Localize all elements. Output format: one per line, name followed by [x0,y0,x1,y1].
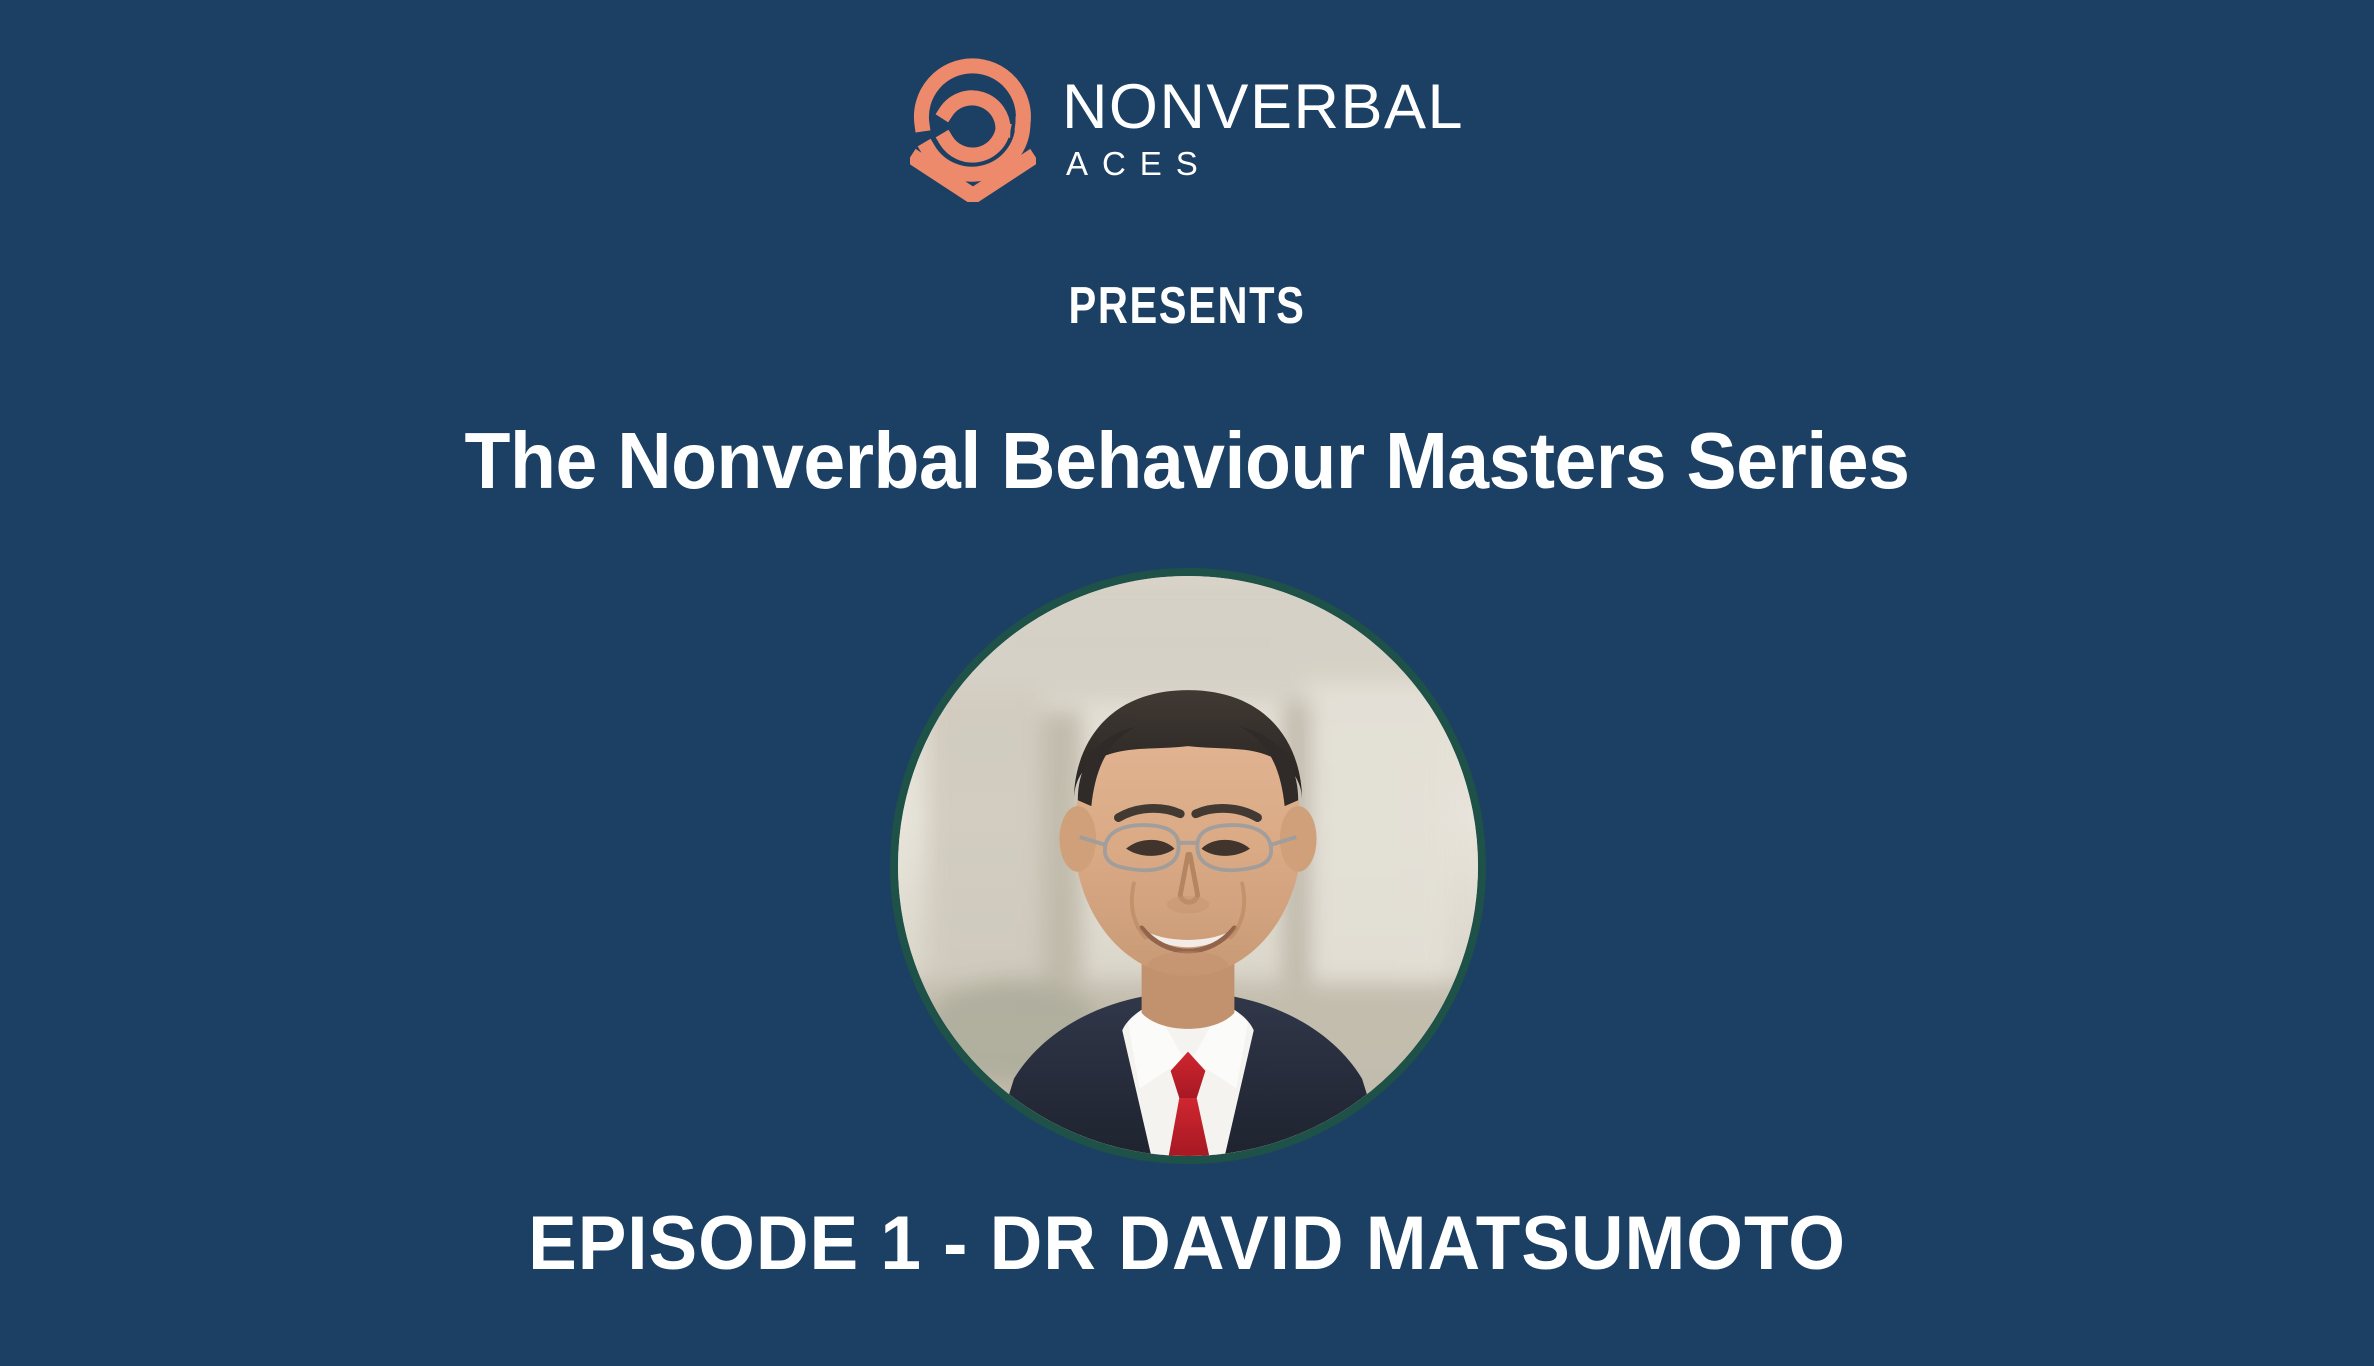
episode-label: EPISODE 1 - DR DAVID MATSUMOTO [47,1200,2326,1287]
nonverbal-aces-logo-mark-icon [910,52,1036,202]
brand-logo-lockup: NONVERBAL ACES [910,52,1464,202]
guest-portrait [890,568,1486,1164]
presents-label: PRESENTS [237,276,2136,336]
brand-name-secondary: ACES [1066,145,1464,183]
series-title: The Nonverbal Behaviour Masters Series [71,415,2303,507]
brand-wordmark: NONVERBAL ACES [1062,71,1464,184]
portrait-ring [890,568,1486,1164]
title-slide: NONVERBAL ACES PRESENTS The Nonverbal Be… [0,0,2374,1366]
brand-name-primary: NONVERBAL [1062,77,1464,139]
